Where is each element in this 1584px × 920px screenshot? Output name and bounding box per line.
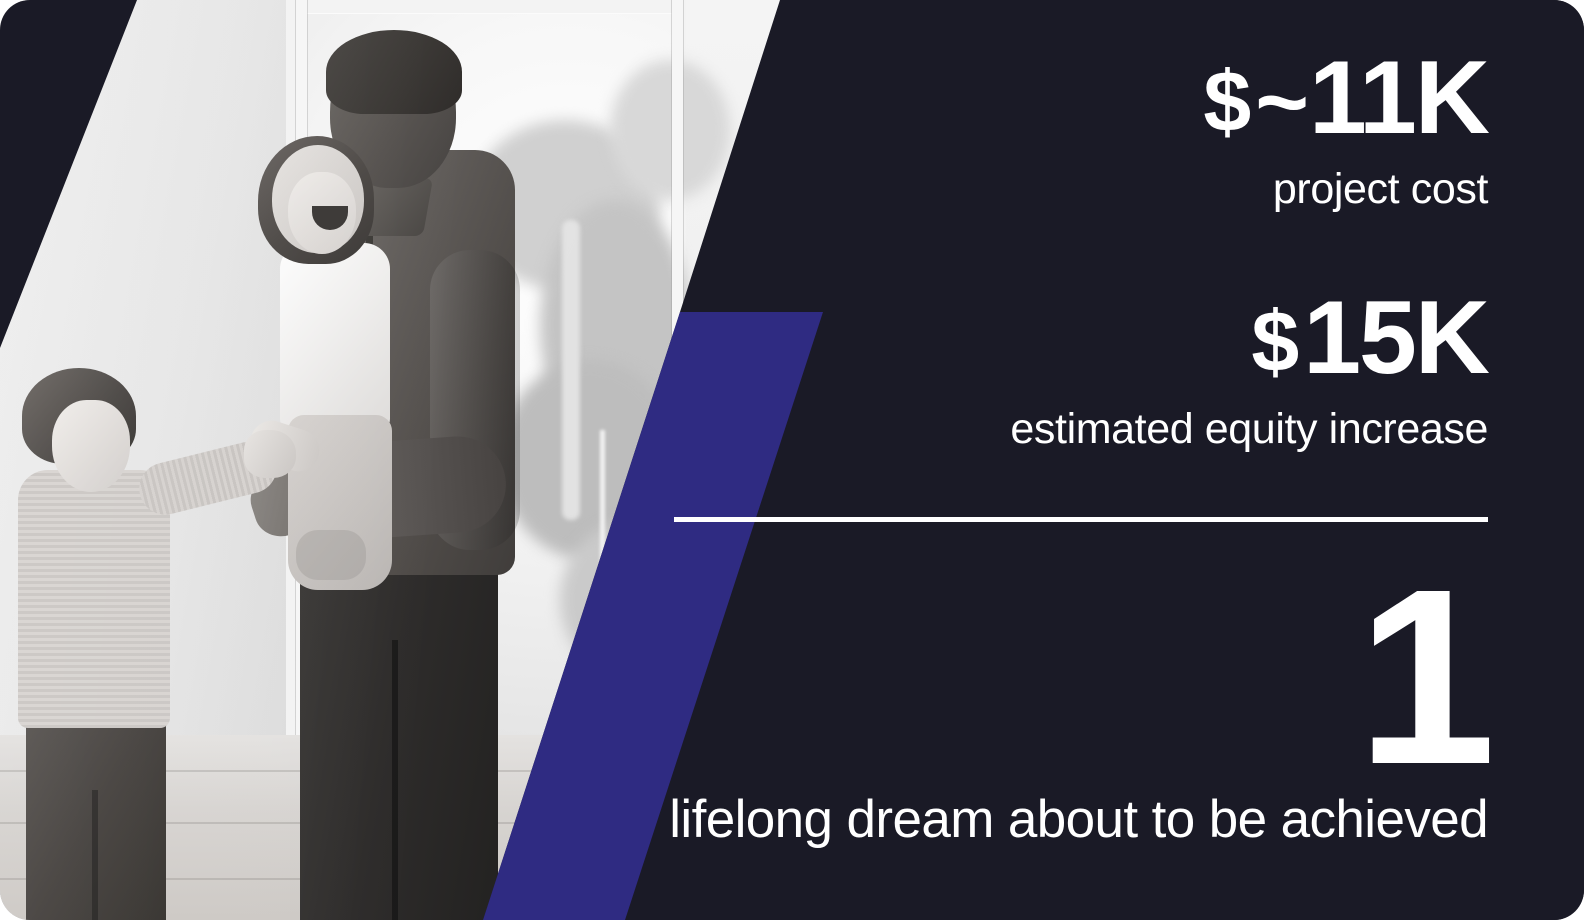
stat-project-cost-value: $~11K	[1203, 42, 1488, 154]
section-divider	[674, 517, 1488, 522]
stat-amount: 11K	[1309, 40, 1488, 156]
highlight-caption: lifelong dream about to be achieved	[669, 790, 1488, 849]
stat-amount: 15K	[1303, 280, 1488, 396]
highlight-number: 1	[1357, 552, 1490, 802]
stat-equity-increase: $15K estimated equity increase	[1010, 282, 1488, 454]
card-content: $~11K project cost $15K estimated equity…	[0, 0, 1584, 920]
stat-project-cost-label: project cost	[1203, 166, 1488, 213]
currency-symbol: $	[1251, 294, 1299, 390]
renovation-impact-card: $~11K project cost $15K estimated equity…	[0, 0, 1584, 920]
stat-project-cost: $~11K project cost	[1203, 42, 1488, 214]
approx-symbol: ~	[1255, 51, 1307, 153]
stat-equity-increase-value: $15K	[1010, 282, 1488, 394]
currency-symbol: $	[1203, 54, 1251, 150]
stat-equity-increase-label: estimated equity increase	[1010, 406, 1488, 453]
